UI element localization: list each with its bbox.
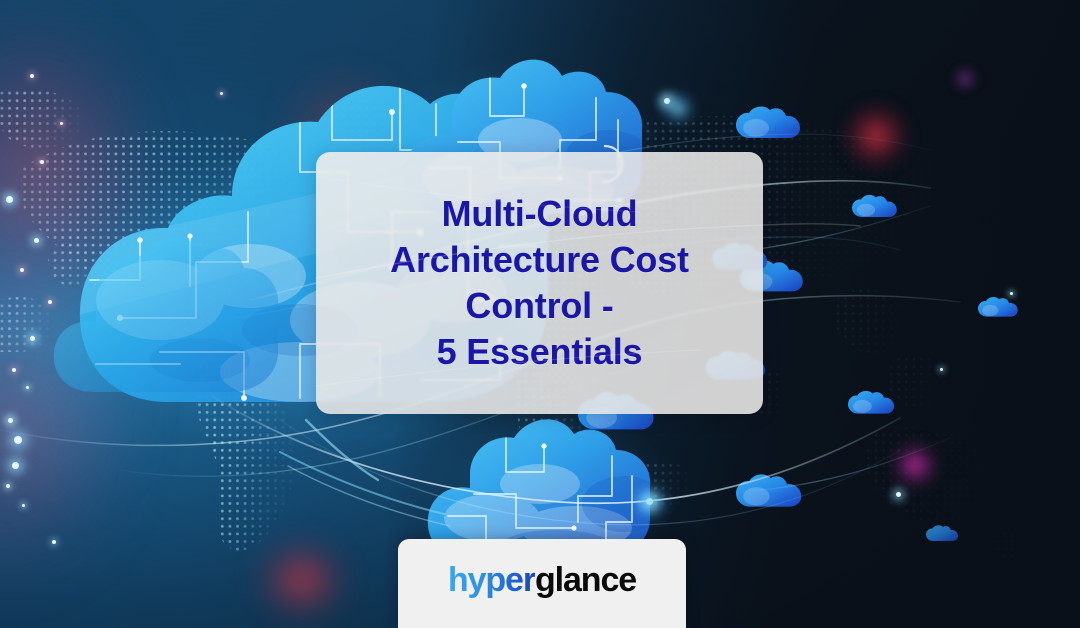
small-cloud-icon [736,474,801,506]
small-cloud-icon [848,391,894,414]
small-cloud-icon [926,525,958,541]
small-cloud-icon [978,297,1018,317]
title-line-1: Multi-Cloud [390,191,689,237]
page-title: Multi-Cloud Architecture Cost Control - … [374,191,705,375]
banner-canvas: Multi-Cloud Architecture Cost Control - … [0,0,1080,628]
title-line-2: Architecture Cost [390,237,689,283]
title-line-4: 5 Essentials [390,329,689,375]
small-cloud-icon [736,106,800,138]
title-card: Multi-Cloud Architecture Cost Control - … [316,152,763,414]
title-line-3: Control - [390,283,689,329]
brand-logo-glance: glance [535,561,636,599]
brand-logo-hyper: hyper [448,561,535,599]
brand-logo: hyperglance [448,561,636,600]
logo-card: hyperglance [398,539,686,628]
small-cloud-icon [852,195,897,217]
